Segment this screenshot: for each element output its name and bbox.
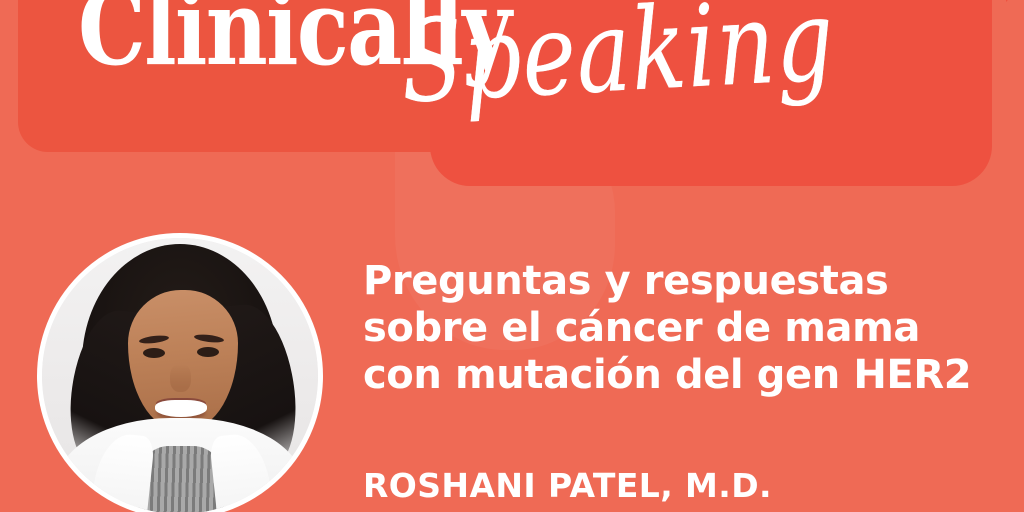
speaker-name-text: ROSHANI PATEL, M.D. — [363, 468, 772, 504]
portrait-eye-left — [143, 348, 165, 358]
clinically-speaking-banner: Clinically Speaking Preguntas y respuest… — [0, 0, 1024, 512]
portrait-lapel-pin — [249, 497, 258, 506]
speaker-portrait-photo — [42, 238, 318, 512]
portrait-nose — [170, 364, 191, 392]
headline-text: Preguntas y respuestas sobre el cáncer d… — [363, 258, 1013, 399]
speaker-portrait — [37, 233, 323, 512]
portrait-eye-right — [197, 347, 219, 357]
speech-bubble-front — [430, 0, 992, 186]
speech-bubble-front-tail — [988, 0, 1024, 2]
headline-block: Preguntas y respuestas sobre el cáncer d… — [363, 258, 1013, 399]
portrait-mouth — [155, 400, 207, 417]
